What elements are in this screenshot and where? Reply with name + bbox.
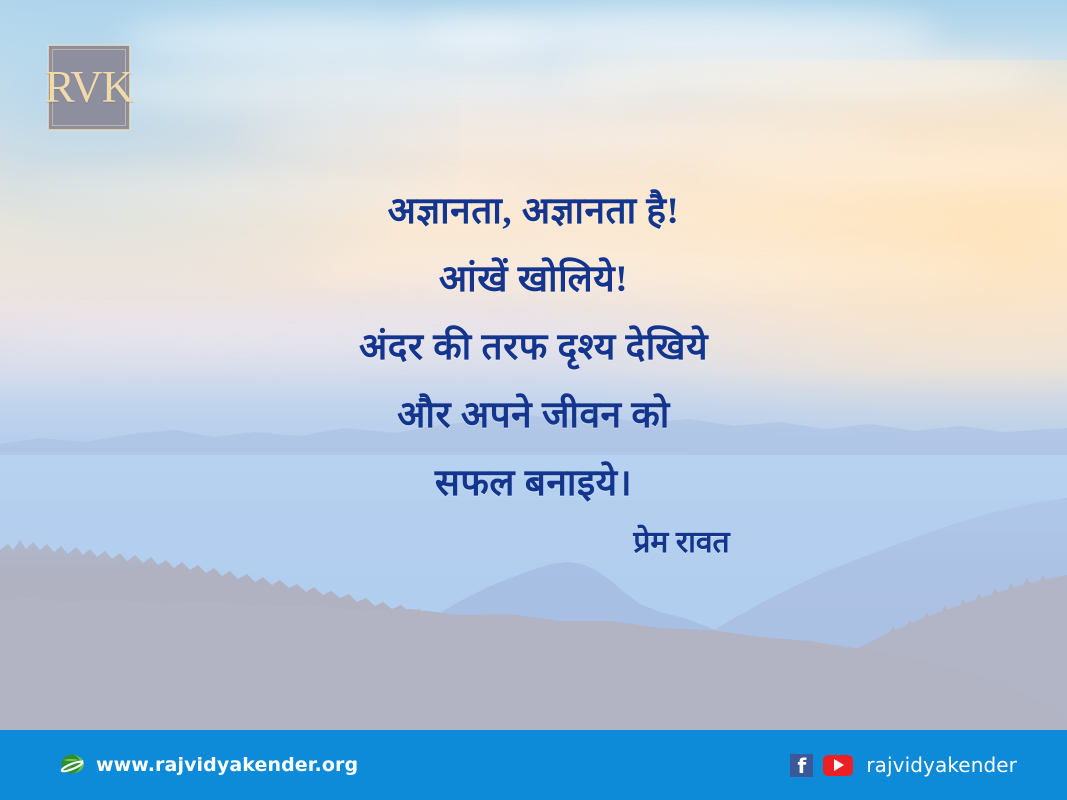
globe-icon (60, 753, 84, 777)
youtube-icon[interactable] (823, 755, 853, 776)
logo-text: RVK (45, 65, 133, 110)
rvk-logo[interactable]: RVK (48, 45, 130, 130)
facebook-glyph: f (797, 756, 806, 777)
facebook-icon[interactable]: f (790, 754, 813, 777)
footer-social-group[interactable]: f rajvidyakender (790, 753, 1017, 777)
forested-ridge-right (0, 575, 1067, 737)
quote-card: RVK अज्ञानता, अज्ञानता है! आंखें खोलिये!… (0, 0, 1067, 800)
footer-website-group[interactable]: www.rajvidyakender.org (60, 753, 358, 777)
quote-block: अज्ञानता, अज्ञानता है! आंखें खोलिये! अंद… (0, 178, 1067, 518)
quote-line-4: और अपने जीवन को (0, 382, 1067, 450)
quote-line-2: आंखें खोलिये! (0, 246, 1067, 314)
author-name: प्रेम रावत (633, 520, 729, 561)
social-handle[interactable]: rajvidyakender (866, 753, 1017, 777)
quote-attribution: प्रेम रावत (0, 520, 1067, 561)
quote-line-5: सफल बनाइये। (0, 450, 1067, 518)
footer-bar: www.rajvidyakender.org f rajvidyakender (0, 730, 1067, 800)
cloud-streak (560, 52, 1040, 98)
website-url[interactable]: www.rajvidyakender.org (96, 754, 358, 776)
play-triangle-icon (834, 759, 844, 771)
cloud-streak (240, 118, 900, 154)
quote-line-3: अंदर की तरफ दृश्य देखिये (0, 314, 1067, 382)
quote-line-1: अज्ञानता, अज्ञानता है! (0, 178, 1067, 246)
